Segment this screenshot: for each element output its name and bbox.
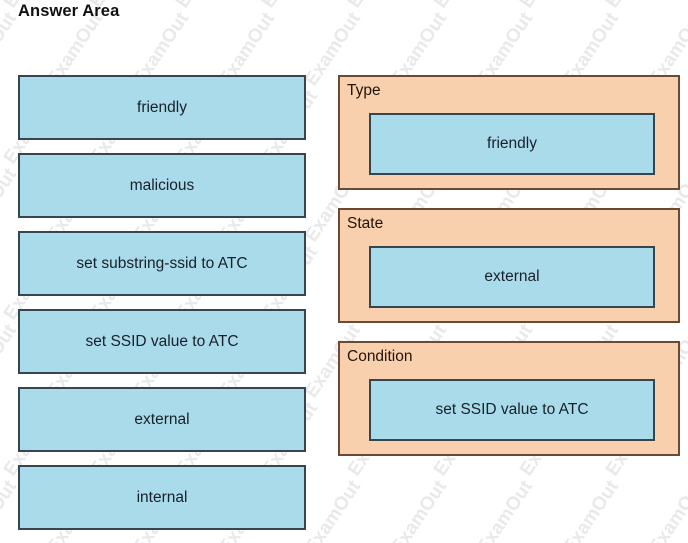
watermark-text: ExamOut [473, 477, 538, 543]
dropped-tile-label: friendly [487, 136, 537, 152]
source-options-list: friendly malicious set substring-ssid to… [18, 75, 306, 543]
answer-area-screen: Answer Area friendly malicious set subst… [0, 0, 688, 543]
watermark-text: ExamOut [258, 0, 323, 12]
source-tile-set-substring-ssid-to-atc[interactable]: set substring-ssid to ATC [18, 231, 306, 296]
dropped-tile-type[interactable]: friendly [369, 113, 655, 175]
watermark-text: ExamOut [516, 0, 581, 12]
watermark-text: ExamOut [602, 0, 667, 12]
watermark-text: ExamOut [301, 477, 366, 543]
source-tile-friendly[interactable]: friendly [18, 75, 306, 140]
source-tile-label: malicious [130, 178, 195, 194]
dropzone-label: Condition [347, 348, 413, 366]
source-tile-label: friendly [137, 100, 187, 116]
dropzone-label: Type [347, 82, 381, 100]
page-title: Answer Area [18, 2, 119, 21]
watermark-text: ExamOut [645, 477, 688, 543]
dropzone-label: State [347, 215, 383, 233]
source-tile-label: external [134, 412, 189, 428]
dropzone-state[interactable]: State external [338, 208, 680, 323]
watermark-text: ExamOut [387, 477, 452, 543]
answer-dropzones: Type friendly State external Condition s… [338, 75, 680, 474]
source-tile-label: set substring-ssid to ATC [76, 256, 247, 272]
watermark-text: ExamOut [559, 477, 624, 543]
source-tile-set-ssid-value-to-atc[interactable]: set SSID value to ATC [18, 309, 306, 374]
source-tile-label: set SSID value to ATC [85, 334, 238, 350]
dropzone-condition[interactable]: Condition set SSID value to ATC [338, 341, 680, 456]
dropped-tile-label: external [484, 269, 539, 285]
source-tile-label: internal [137, 490, 188, 506]
dropped-tile-condition[interactable]: set SSID value to ATC [369, 379, 655, 441]
watermark-text: ExamOut [344, 0, 409, 12]
watermark-text: ExamOut [172, 0, 237, 12]
source-tile-external[interactable]: external [18, 387, 306, 452]
source-tile-malicious[interactable]: malicious [18, 153, 306, 218]
source-tile-internal[interactable]: internal [18, 465, 306, 530]
dropped-tile-state[interactable]: external [369, 246, 655, 308]
dropzone-type[interactable]: Type friendly [338, 75, 680, 190]
watermark-text: ExamOut [430, 0, 495, 12]
dropped-tile-label: set SSID value to ATC [435, 402, 588, 418]
